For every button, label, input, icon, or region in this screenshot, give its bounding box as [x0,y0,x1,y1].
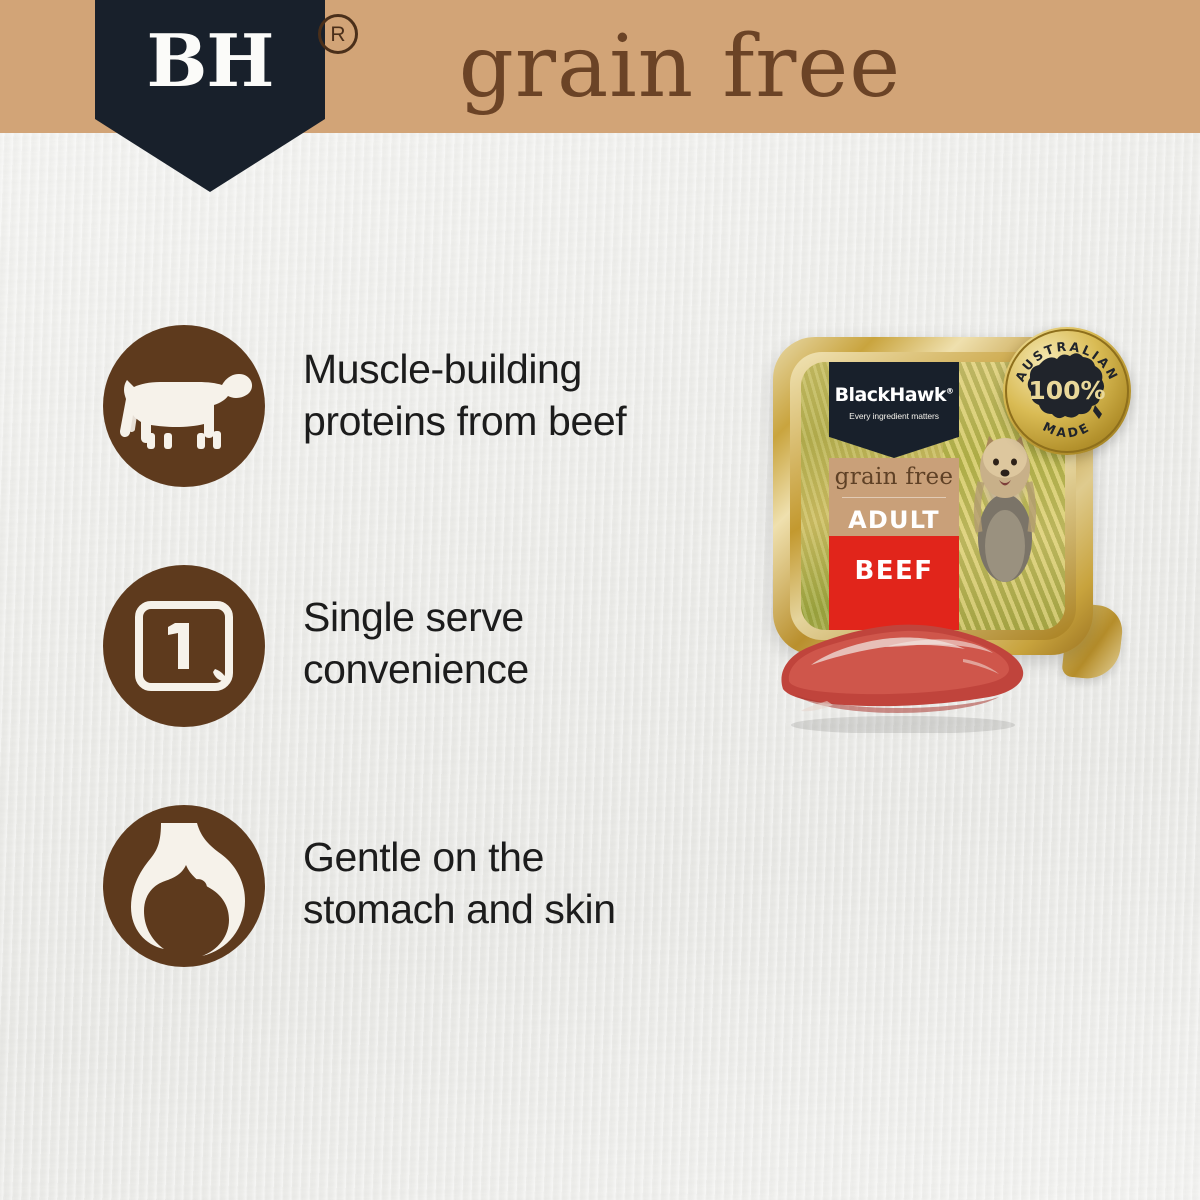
feature-list: Muscle-building proteins from beef Singl… [103,325,743,1045]
svg-text:MADE: MADE [1041,419,1094,441]
brand-name: BlackHawk® [835,386,954,405]
feature-line-2: stomach and skin [303,883,743,935]
australian-made-badge: 100% AUSTRALIAN MADE [1003,327,1131,455]
feature-line-2: proteins from beef [303,395,743,447]
feature-text: Muscle-building proteins from beef [303,343,743,448]
feature-line-1: Gentle on the [303,831,743,883]
product-feature-banner: grain free BH R Mu [0,0,1200,1200]
raw-beef-cut-image [765,603,1037,733]
product-label: BlackHawk® Every ingredient matters grai… [829,362,959,630]
grain-free-text: grain free [835,466,954,489]
black-hawk-shield-logo: BH [95,0,325,192]
feature-text: Gentle on the stomach and skin [303,831,743,936]
cow-icon [103,325,265,487]
stomach-heart-icon [103,805,265,967]
label-divider [842,497,946,498]
feature-item: Gentle on the stomach and skin [103,805,743,1045]
feature-line-2: convenience [303,643,743,695]
life-stage-text: ADULT [848,508,940,532]
brand-tagline: Every ingredient matters [849,411,939,421]
label-variant-panel: grain free ADULT [829,458,959,536]
registered-trademark-icon: R [318,14,358,54]
flavour-text: BEEF [854,558,933,584]
feature-line-1: Single serve [303,591,743,643]
feature-line-1: Muscle-building [303,343,743,395]
product-tray-beef: BlackHawk® Every ingredient matters grai… [745,325,1165,765]
feature-text: Single serve convenience [303,591,743,696]
feature-item: Single serve convenience [103,565,743,805]
label-brand-panel: BlackHawk® Every ingredient matters [829,362,959,458]
feature-item: Muscle-building proteins from beef [103,325,743,565]
number-one-tray-icon [103,565,265,727]
badge-percent: 100% [1028,376,1105,405]
logo-initials: BH [95,0,325,122]
